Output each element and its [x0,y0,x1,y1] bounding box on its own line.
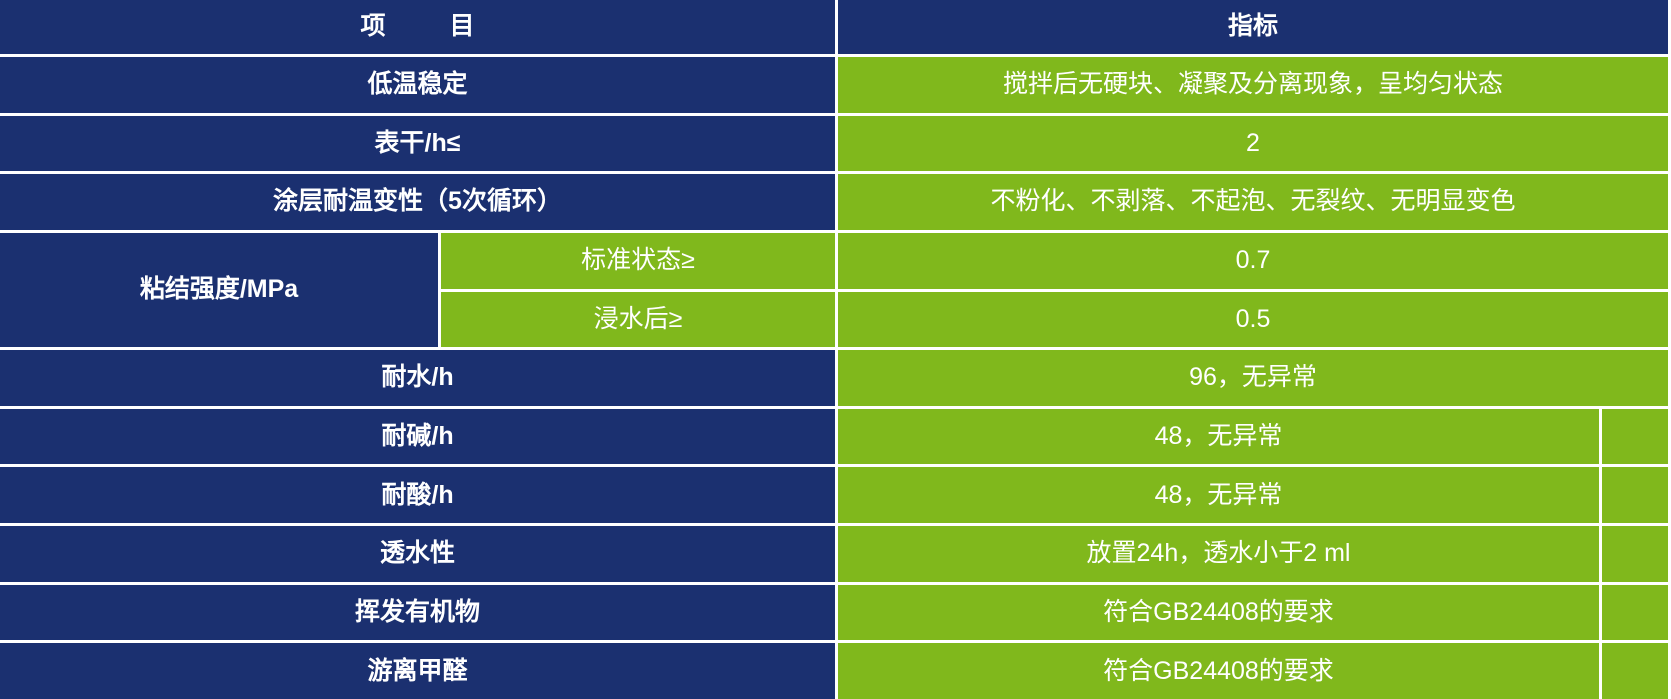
row-value: 2 [838,113,1671,172]
table-row: 耐碱/h 48，无异常 [0,406,1671,465]
table-row: 耐水/h 96，无异常 [0,347,1671,406]
row-value: 48，无异常 [838,464,1602,523]
row-item-label: 挥发有机物 [0,582,838,641]
row-sub-item-label: 浸水后≥ [441,289,838,348]
table-row: 粘结强度/MPa 标准状态≥ 0.7 [0,230,1671,289]
row-value: 放置24h，透水小于2 ml [838,523,1602,582]
table-row: 游离甲醛 符合GB24408的要求 [0,640,1671,699]
row-extra-cell [1602,523,1671,582]
row-value: 符合GB24408的要求 [838,582,1602,641]
row-item-label-bond-strength: 粘结强度/MPa [0,230,441,347]
header-item-label-part1: 项 [360,12,385,40]
row-extra-cell [1602,640,1671,699]
row-extra-cell [1602,582,1671,641]
row-item-label: 透水性 [0,523,838,582]
row-value: 0.5 [838,289,1671,348]
row-extra-cell [1602,406,1671,465]
table-row: 涂层耐温变性（5次循环） 不粉化、不剥落、不起泡、无裂纹、无明显变色 [0,171,1671,230]
row-item-label: 涂层耐温变性（5次循环） [0,171,838,230]
row-value: 不粉化、不剥落、不起泡、无裂纹、无明显变色 [838,171,1671,230]
header-item-label-part2: 目 [450,12,475,40]
row-item-label: 耐酸/h [0,464,838,523]
row-item-label: 低温稳定 [0,54,838,113]
header-cell-index: 指标 [838,0,1671,54]
row-item-label: 游离甲醛 [0,640,838,699]
table-header-row: 项目 指标 [0,0,1671,54]
row-extra-cell [1602,464,1671,523]
row-value: 0.7 [838,230,1671,289]
row-item-label: 耐水/h [0,347,838,406]
table-row: 表干/h≤ 2 [0,113,1671,172]
row-value: 搅拌后无硬块、凝聚及分离现象，呈均匀状态 [838,54,1671,113]
row-value: 符合GB24408的要求 [838,640,1602,699]
header-cell-item: 项目 [0,0,838,54]
row-item-label: 表干/h≤ [0,113,838,172]
row-value: 96，无异常 [838,347,1671,406]
specification-table: 项目 指标 低温稳定 搅拌后无硬块、凝聚及分离现象，呈均匀状态 表干/h≤ 2 … [0,0,1671,699]
row-item-label: 耐碱/h [0,406,838,465]
spec-table-container: 项目 指标 低温稳定 搅拌后无硬块、凝聚及分离现象，呈均匀状态 表干/h≤ 2 … [0,0,1671,699]
table-row: 挥发有机物 符合GB24408的要求 [0,582,1671,641]
row-sub-item-label: 标准状态≥ [441,230,838,289]
table-row: 耐酸/h 48，无异常 [0,464,1671,523]
row-value: 48，无异常 [838,406,1602,465]
table-row: 低温稳定 搅拌后无硬块、凝聚及分离现象，呈均匀状态 [0,54,1671,113]
table-row: 透水性 放置24h，透水小于2 ml [0,523,1671,582]
